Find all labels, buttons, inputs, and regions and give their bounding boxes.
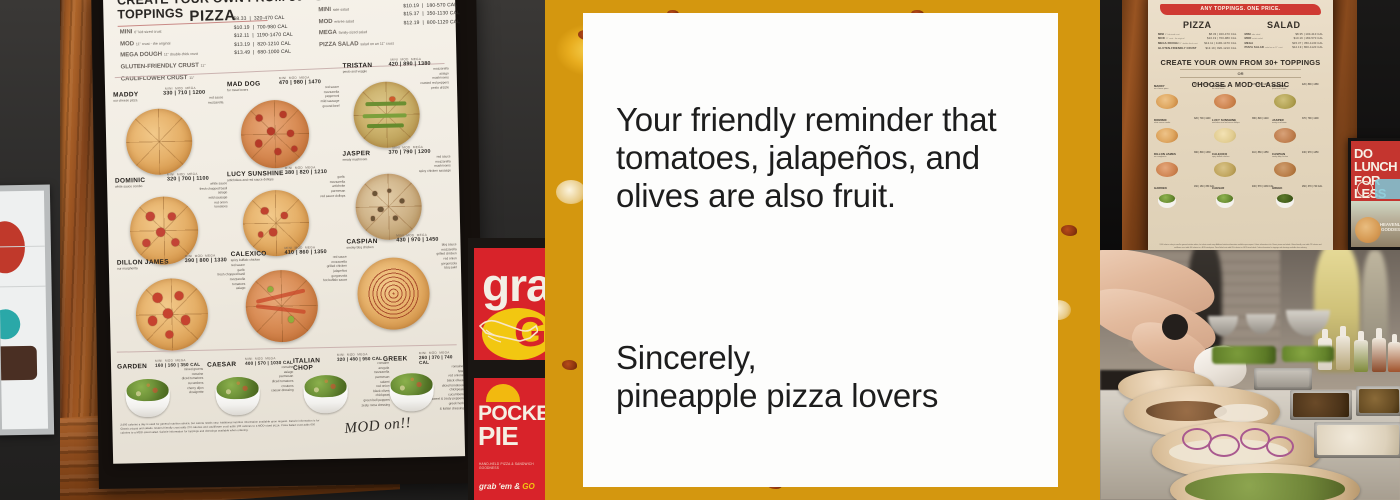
rt-item-cals: 330 | 710 | 1200 xyxy=(1194,84,1211,86)
rt-section-pizza: PIZZA xyxy=(1154,20,1241,30)
pizza-image xyxy=(135,278,209,352)
pizza-desc: pesto and veggie xyxy=(343,69,389,75)
salad-greens xyxy=(126,379,168,402)
rt-item-desc: smoky bbq chicken xyxy=(1272,156,1326,158)
menu-section-pizza: PIZZA xyxy=(189,7,236,25)
do-lunch-for-less-sign: DO LUNCH FOR LESS HEAVENLY GODDESS xyxy=(1348,138,1400,250)
left-photo-panel: CREATE YOUR OWN FROM 30+ TOPPINGS PIZZA … xyxy=(0,0,545,500)
rb-sauce-bottle xyxy=(1372,338,1386,372)
salad-greens xyxy=(390,373,432,396)
pizza-toppings: red sauce mozzarella xyxy=(163,95,223,106)
pizza-image xyxy=(245,269,319,343)
collage-canvas: CREATE YOUR OWN FROM 30+ TOPPINGS PIZZA … xyxy=(0,0,1400,500)
lunch-line-1: DO LUNCH xyxy=(1354,146,1397,174)
pizza-desc: spicy buffalo chicken xyxy=(231,257,285,263)
rt-pizza-image xyxy=(1156,128,1178,143)
price-row: $13.49 | 680-1000 CAL xyxy=(234,48,312,58)
pizza-toppings: red sauce mozzarella mushrooms spicy chi… xyxy=(389,154,451,174)
rt-salad-greens xyxy=(1159,194,1175,203)
rt-item-desc: for meat lovers xyxy=(1212,88,1268,90)
rt-pizza-image xyxy=(1274,128,1296,143)
rb-greens-tray xyxy=(1282,346,1334,362)
rt-item-desc: meaty mushroom xyxy=(1272,122,1326,124)
rt-item-cals: 470 | 980 | 1470 xyxy=(1252,84,1269,86)
grab-and-go-sign: grab G xyxy=(474,248,545,360)
pizza-desc: for meat lovers xyxy=(227,87,279,93)
pizza-desc: artichokes and red sauce dollops xyxy=(227,177,285,183)
right-top-menu-panel: WELCOME TO MOD ANY TOPPINGS. ONE PRICE. … xyxy=(1100,0,1400,250)
pizza-desc: our margherita xyxy=(117,265,185,271)
pizza-desc: white sauce combo xyxy=(115,184,167,190)
rt-item-desc: our cheese pizza xyxy=(1154,88,1210,90)
rt-item-desc: artichokes and red sauce dollops xyxy=(1212,122,1268,124)
rb-greens-tray xyxy=(1212,346,1276,364)
rt-item-cals: 420 | 890 | 1380 xyxy=(1302,84,1319,86)
rt-item-desc: our margherita xyxy=(1154,156,1210,158)
rt-banner: ANY TOPPINGS. ONE PRICE. xyxy=(1160,4,1321,15)
quote-card: Your friendly reminder that tomatoes, ja… xyxy=(583,13,1058,487)
pointing-hand-icon xyxy=(476,310,538,354)
rt-item-desc: pesto and veggie xyxy=(1272,88,1326,90)
rb-onion-ring xyxy=(1266,436,1294,457)
rt-welcome-prefix: WELCOME TO xyxy=(1212,0,1255,1)
center-quote-panel: Your friendly reminder that tomatoes, ja… xyxy=(545,0,1100,500)
rt-welcome-line: WELCOME TO MOD xyxy=(1154,0,1327,1)
signature-text: Sincerely, pineapple pizza lovers xyxy=(616,339,1028,415)
rt-pizza-image xyxy=(1156,162,1178,177)
rt-section-salad: SALAD xyxy=(1241,20,1328,30)
rt-banner-text: ANY TOPPINGS. ONE PRICE. xyxy=(1200,6,1280,12)
rb-sauce-bottle xyxy=(1336,336,1350,370)
quote-text: Your friendly reminder that tomatoes, ja… xyxy=(616,101,1028,215)
rt-or-line: OR xyxy=(1154,71,1327,76)
rt-item-cals: 370 | 790 | 1200 xyxy=(1302,118,1319,120)
salad-greens xyxy=(216,377,258,400)
rt-create-line: CREATE YOUR OWN FROM 30+ TOPPINGS xyxy=(1154,58,1327,67)
rt-pizza-image xyxy=(1156,94,1178,109)
pocket-pie-sign: POCKETPIE HAND-HELD PIZZA & SANDWICH GOO… xyxy=(474,378,545,500)
pizza-desc: smoky bbq chicken xyxy=(346,245,396,251)
rt-item-desc: white sauce combo xyxy=(1154,122,1210,124)
rt-item-desc: spicy buffalo chicken xyxy=(1212,156,1268,158)
rt-item-cals: 390 | 800 | 1330 xyxy=(1194,152,1211,154)
lunch-sign-face: DO LUNCH FOR LESS HEAVENLY GODDESS xyxy=(1351,141,1400,247)
pocket-pie-text: POCKETPIE xyxy=(478,404,545,449)
framed-poster-left xyxy=(0,185,54,436)
rt-item-cals: 260 | 370 | 740 CAL xyxy=(1302,186,1322,188)
rb-topping-pan xyxy=(1290,390,1352,420)
rt-salad-greens xyxy=(1217,194,1233,203)
rb-onion-ring xyxy=(1208,434,1240,457)
pizza-image xyxy=(353,81,420,148)
rt-menu-board: WELCOME TO MOD ANY TOPPINGS. ONE PRICE. … xyxy=(1148,0,1333,250)
rt-salad-greens xyxy=(1277,194,1293,203)
rb-sauce-bottle xyxy=(1388,342,1400,372)
menu-board: CREATE YOUR OWN FROM 30+ TOPPINGS PIZZA … xyxy=(103,0,465,464)
rt-item-cals: 400 | 570 | 1030 CAL xyxy=(1252,186,1274,188)
rt-item-cals: 410 | 860 | 1350 xyxy=(1252,152,1269,154)
salad-price-row: $12.19 | 800-1120 CAL xyxy=(404,17,484,27)
rt-pizza-image xyxy=(1274,94,1296,109)
rt-price-row: GLUTEN-FRIENDLY CRUST $13.19 | 820-1210 … xyxy=(1158,46,1237,50)
rt-pizza-image xyxy=(1214,162,1236,177)
rt-pizza-image xyxy=(1214,94,1236,109)
rt-salad-price-row: PIZZA SALAD salad on an 11" crust $12.19… xyxy=(1245,45,1324,50)
rt-welcome-brand: MOD xyxy=(1255,0,1269,1)
rt-pizza-image xyxy=(1214,128,1236,143)
rt-item-cals: 380 | 820 | 1210 xyxy=(1252,118,1269,120)
lunch-sign-photo: HEAVENLY GODDESS xyxy=(1351,201,1400,247)
pizza-desc: our cheese pizza xyxy=(113,98,163,104)
lunch-promo-text: HEAVENLY GODDESS xyxy=(1380,222,1400,233)
rb-topping-pan xyxy=(1314,422,1400,458)
right-bottom-kitchen-panel xyxy=(1100,250,1400,500)
rb-topping-pan xyxy=(1356,386,1400,416)
rb-sauce-bottle xyxy=(1354,340,1368,372)
pizza-image xyxy=(240,99,309,168)
menu-footnote: 2,000 calories a day is used for general… xyxy=(120,419,325,436)
salad-row: PIZZA SALAD salad on an 11" crust xyxy=(319,38,429,52)
pizza-image xyxy=(125,108,192,175)
rt-item-cals: 320 | 700 | 1100 xyxy=(1194,118,1210,120)
pizza-image xyxy=(355,173,422,240)
pocket-pie-sub: grab 'em & GO xyxy=(479,482,535,491)
rt-wood-post-left xyxy=(1122,0,1148,250)
mod-on-signoff: MOD on!! xyxy=(344,415,412,438)
pizza-image xyxy=(357,257,431,331)
rb-watch xyxy=(1162,314,1188,340)
rb-topping-pan xyxy=(1254,368,1312,390)
rt-pizza-image xyxy=(1274,162,1296,177)
salad-greens xyxy=(304,375,346,398)
poster-artwork xyxy=(0,191,48,430)
grab-sign-text: grab xyxy=(482,258,545,312)
pizza-desc: meaty mushroom xyxy=(343,157,389,163)
rt-item-cals: 430 | 970 | 1450 xyxy=(1302,152,1319,154)
